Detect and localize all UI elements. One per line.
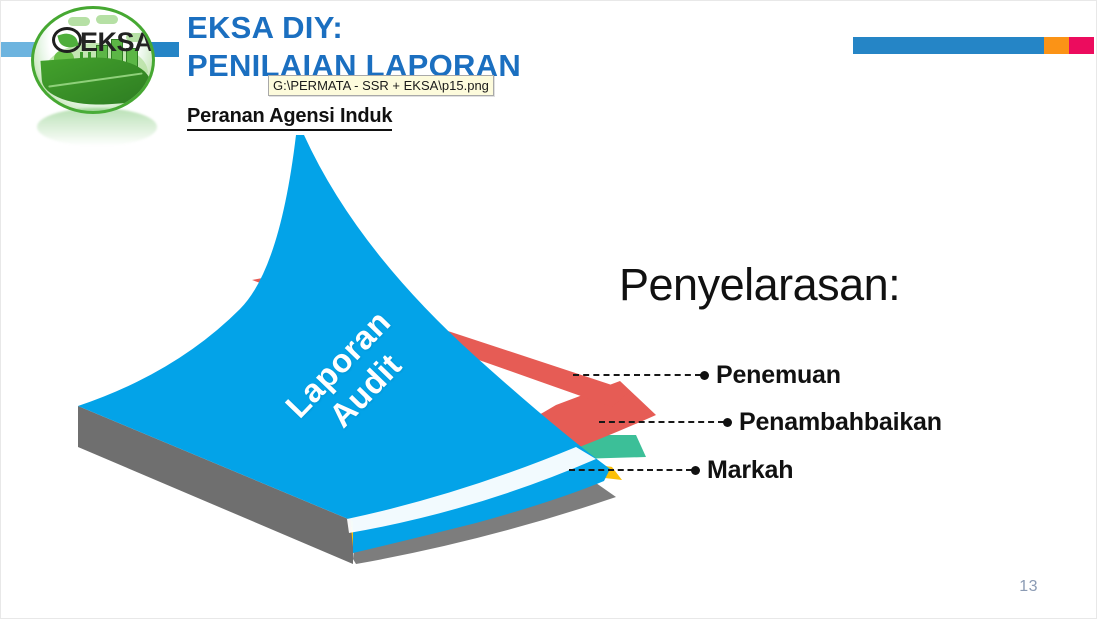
callout-label: Penambahbaikan — [739, 408, 942, 437]
page-number: 13 — [1019, 578, 1038, 596]
leader-dot — [700, 371, 709, 380]
stacked-report-layers-diagram: Laporan Audit — [56, 129, 676, 569]
leader-line — [599, 421, 724, 423]
accent-bar-group-right — [853, 37, 1094, 54]
slide-canvas: EKSA EKSA DIY: PENILAIAN LAPORAN Peranan… — [0, 0, 1097, 619]
leader-line — [573, 374, 701, 376]
cloud-icon — [68, 17, 90, 26]
leader-line — [569, 469, 692, 471]
callout-penemuan: Penemuan — [573, 364, 841, 386]
cloud-icon — [96, 15, 118, 24]
accent-bar-pink — [1069, 37, 1094, 54]
leader-dot — [723, 418, 732, 427]
file-path-tooltip: G:\PERMATA - SSR + EKSA\p15.png — [268, 75, 494, 96]
logo-wordmark: EKSA — [80, 27, 153, 58]
leader-dot — [691, 466, 700, 475]
eksa-logo: EKSA — [27, 4, 163, 140]
callout-label: Penemuan — [716, 361, 841, 390]
callout-markah: Markah — [569, 459, 793, 481]
title-line-1: EKSA DIY: — [187, 9, 887, 47]
page-title: EKSA DIY: PENILAIAN LAPORAN — [187, 9, 887, 85]
callout-penambahbaikan: Penambahbaikan — [599, 411, 942, 433]
callout-heading: Penyelarasan: — [619, 259, 900, 311]
leaf-badge-icon — [52, 27, 82, 53]
callout-label: Markah — [707, 456, 793, 485]
logo-disc: EKSA — [31, 6, 155, 114]
top-sheet — [78, 135, 610, 553]
page-subtitle: Peranan Agensi Induk — [187, 105, 392, 131]
accent-bar-orange — [1044, 37, 1069, 54]
